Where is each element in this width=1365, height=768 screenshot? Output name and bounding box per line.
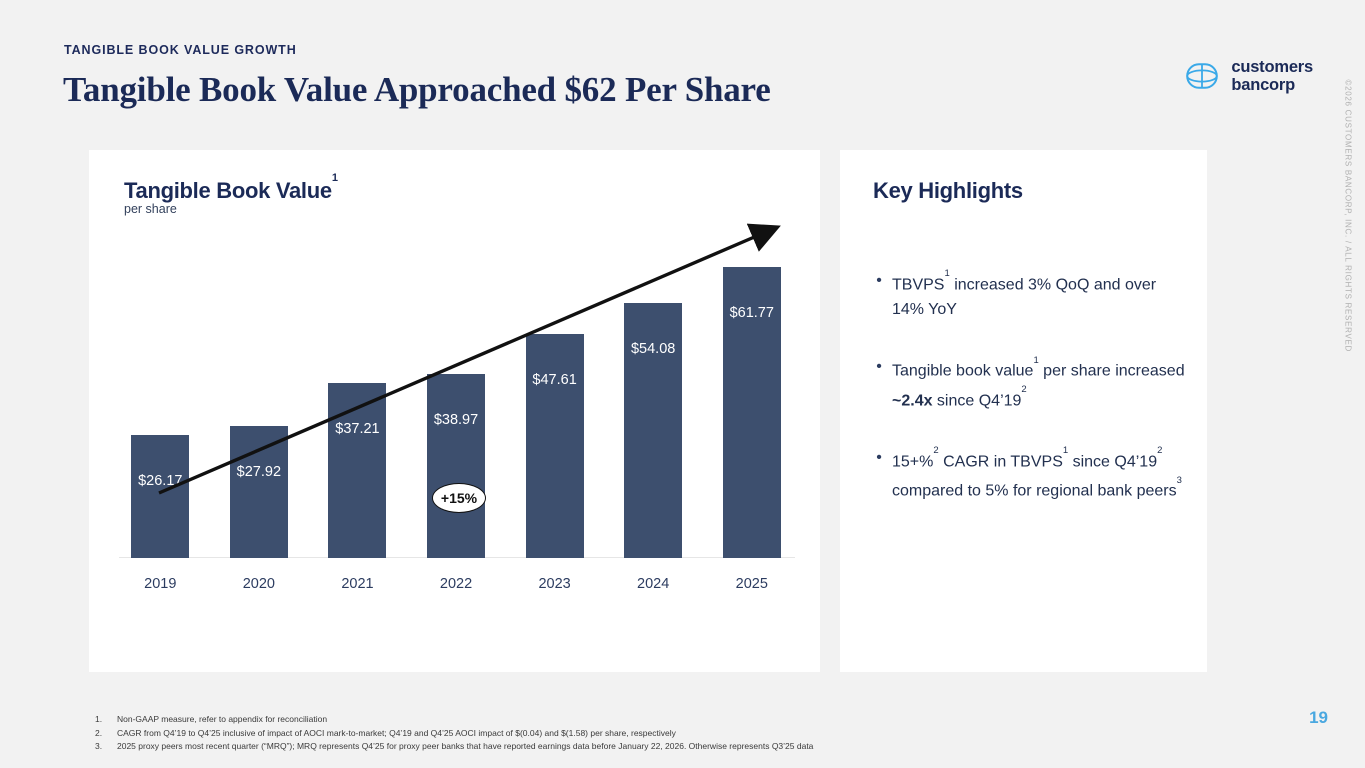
list-item-text: TBVPS1 increased 3% QoQ and over 14% YoY [892, 268, 1191, 322]
bar: $27.92 [230, 426, 288, 558]
x-axis-tick-label: 2023 [505, 576, 604, 592]
footnote-text: Non-GAAP measure, refer to appendix for … [117, 713, 327, 727]
bar-column: $27.92 [210, 228, 309, 558]
footnote-text: 2025 proxy peers most recent quarter (“M… [117, 740, 813, 754]
bar-value-label: $54.08 [631, 341, 675, 357]
bar-column: $54.08 [604, 228, 703, 558]
bar-value-label: $47.61 [532, 372, 576, 388]
footnotes: 1.Non-GAAP measure, refer to appendix fo… [95, 713, 1195, 754]
bar-column: $61.77 [702, 228, 801, 558]
chart-title: Tangible Book Value1 [124, 178, 338, 204]
x-axis-labels: 2019202020212022202320242025 [111, 576, 801, 592]
slide-eyebrow: TANGIBLE BOOK VALUE GROWTH [64, 43, 297, 57]
bank-oval-logo-icon [1185, 59, 1219, 93]
footnote-number: 2. [95, 727, 117, 741]
bar-column: $37.21 [308, 228, 407, 558]
bar-value-label: $61.77 [730, 305, 774, 321]
list-item: •TBVPS1 increased 3% QoQ and over 14% Yo… [866, 268, 1191, 322]
x-axis-tick-label: 2020 [210, 576, 309, 592]
key-highlights-card: Key Highlights •TBVPS1 increased 3% QoQ … [840, 150, 1207, 672]
bar: $37.21 [328, 383, 386, 558]
copyright-notice: ©2026 CUSTOMERS BANCORP, INC. / ALL RIGH… [1343, 80, 1352, 352]
bar: $26.17 [131, 435, 189, 558]
list-item: •Tangible book value1 per share increase… [866, 354, 1191, 413]
logo-line-2: bancorp [1231, 76, 1313, 94]
bar-value-label: $26.17 [138, 473, 182, 489]
chart-subtitle: per share [124, 202, 177, 216]
bar: $47.61 [526, 334, 584, 558]
key-highlights-list: •TBVPS1 increased 3% QoQ and over 14% Yo… [866, 268, 1191, 536]
logo-wordmark: customers bancorp [1231, 58, 1313, 95]
bar-value-label: $37.21 [335, 421, 379, 437]
footnote-row: 2.CAGR from Q4’19 to Q4’25 inclusive of … [95, 727, 1195, 741]
chart-title-text: Tangible Book Value [124, 178, 332, 203]
x-axis-tick-label: 2021 [308, 576, 407, 592]
bar-chart-plot: $26.17$27.92$37.21$38.97$47.61$54.08$61.… [111, 220, 801, 610]
footnote-row: 3.2025 proxy peers most recent quarter (… [95, 740, 1195, 754]
company-logo: customers bancorp [1185, 58, 1313, 95]
bullet-dot-icon: • [866, 354, 892, 413]
list-item: •15+%2 CAGR in TBVPS1 since Q4’192 compa… [866, 445, 1191, 504]
logo-line-1: customers [1231, 58, 1313, 76]
list-item-text: 15+%2 CAGR in TBVPS1 since Q4’192 compar… [892, 445, 1191, 504]
x-axis-tick-label: 2022 [407, 576, 506, 592]
x-axis-tick-label: 2024 [604, 576, 703, 592]
growth-badge: +15% [432, 483, 486, 513]
bar-column: $26.17 [111, 228, 210, 558]
bar-value-label: $27.92 [237, 464, 281, 480]
footnote-number: 1. [95, 713, 117, 727]
list-item-text: Tangible book value1 per share increased… [892, 354, 1191, 413]
footnote-row: 1.Non-GAAP measure, refer to appendix fo… [95, 713, 1195, 727]
footnote-text: CAGR from Q4’19 to Q4’25 inclusive of im… [117, 727, 676, 741]
x-axis-tick-label: 2025 [702, 576, 801, 592]
bar: $54.08 [624, 303, 682, 558]
bar-column: $47.61 [505, 228, 604, 558]
bullet-dot-icon: • [866, 445, 892, 504]
chart-title-footnote-ref: 1 [332, 172, 338, 184]
bar: $61.77 [723, 267, 781, 558]
page-title: Tangible Book Value Approached $62 Per S… [63, 70, 771, 110]
bullet-dot-icon: • [866, 268, 892, 322]
page-number: 19 [1309, 708, 1328, 728]
key-highlights-title: Key Highlights [873, 178, 1023, 204]
bar: $38.97 [427, 374, 485, 558]
footnote-number: 3. [95, 740, 117, 754]
chart-card: Tangible Book Value1 per share $26.17$27… [89, 150, 820, 672]
x-axis-tick-label: 2019 [111, 576, 210, 592]
bar-value-label: $38.97 [434, 412, 478, 428]
